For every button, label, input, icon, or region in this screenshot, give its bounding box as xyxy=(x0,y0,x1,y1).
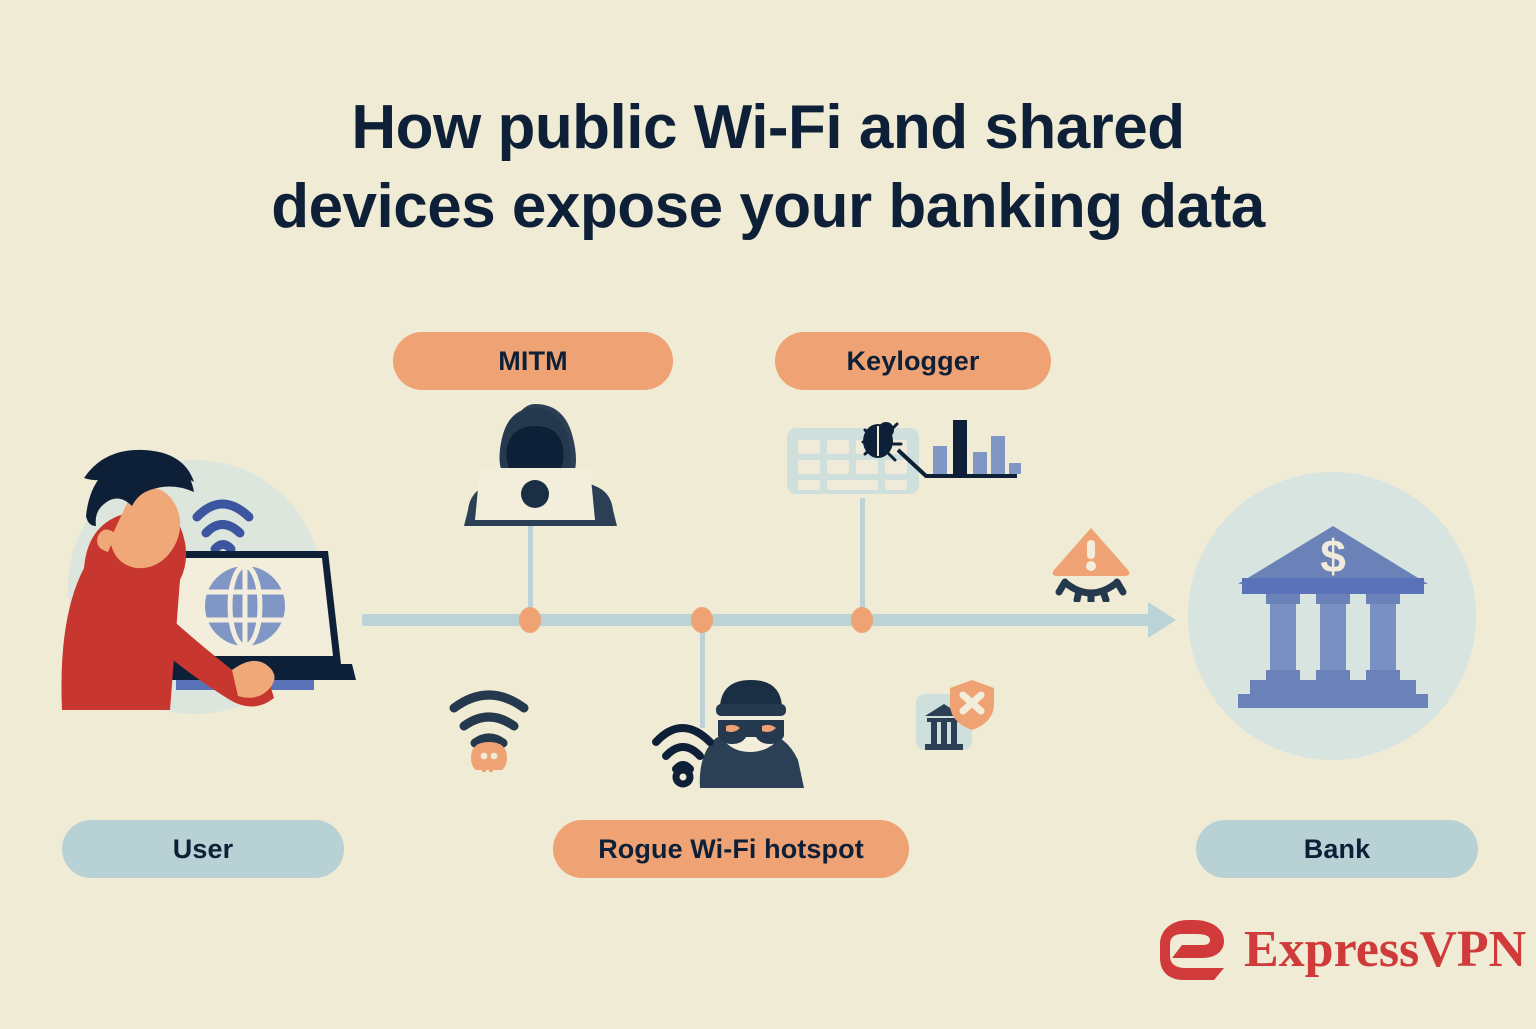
wifi-signal-icon xyxy=(197,504,249,549)
badge-bank[interactable]: Bank xyxy=(1196,820,1478,878)
expressvpn-logo[interactable]: ExpressVPN xyxy=(1158,918,1526,982)
closed-eye-icon xyxy=(1059,582,1123,602)
expressvpn-wordmark: ExpressVPN xyxy=(1244,924,1526,976)
svg-text:$: $ xyxy=(1320,530,1346,582)
timeline-node-rogue-hotspot xyxy=(691,607,713,633)
globe-icon xyxy=(205,566,285,646)
bar-chart-icon xyxy=(933,420,1021,474)
hooded-hacker-with-laptop-icon xyxy=(464,404,617,526)
timeline-node-keylogger xyxy=(851,607,873,633)
skull-icon xyxy=(471,742,507,772)
warning-eye-illustration xyxy=(1048,524,1134,602)
badge-user[interactable]: User xyxy=(62,820,344,878)
masked-thief-with-wifi-icon xyxy=(656,680,804,788)
title-line-2: devices expose your banking data xyxy=(0,167,1536,246)
mitm-hacker-illustration xyxy=(452,402,618,528)
timeline-track xyxy=(362,614,1152,626)
bank-illustration: $ xyxy=(1228,508,1438,718)
badge-mitm[interactable]: MITM xyxy=(393,332,673,390)
warning-triangle-icon xyxy=(1053,528,1130,576)
wifi-skull-icon xyxy=(454,695,524,772)
bank-blocked-shield-icon xyxy=(916,680,994,750)
title-line-1: How public Wi-Fi and shared xyxy=(0,88,1536,167)
connector-mitm xyxy=(528,520,533,620)
bank-building-icon: $ xyxy=(1238,526,1428,708)
skull-wifi-illustration xyxy=(446,686,532,772)
keylogger-illustration xyxy=(785,410,1035,500)
badge-rogue-hotspot[interactable]: Rogue Wi-Fi hotspot xyxy=(553,820,909,878)
keyboard-icon xyxy=(787,428,919,494)
badge-keylogger[interactable]: Keylogger xyxy=(775,332,1051,390)
infographic-canvas: How public Wi-Fi and shared devices expo… xyxy=(0,0,1536,1029)
expressvpn-logo-mark xyxy=(1158,918,1230,982)
right-arrow-icon xyxy=(1148,602,1176,638)
connector-keylogger xyxy=(860,498,865,620)
bank-blocked-illustration xyxy=(914,676,996,758)
rogue-hotspot-illustration xyxy=(650,676,810,788)
timeline-node-mitm xyxy=(519,607,541,633)
page-title: How public Wi-Fi and shared devices expo… xyxy=(0,88,1536,247)
user-illustration xyxy=(56,448,366,714)
